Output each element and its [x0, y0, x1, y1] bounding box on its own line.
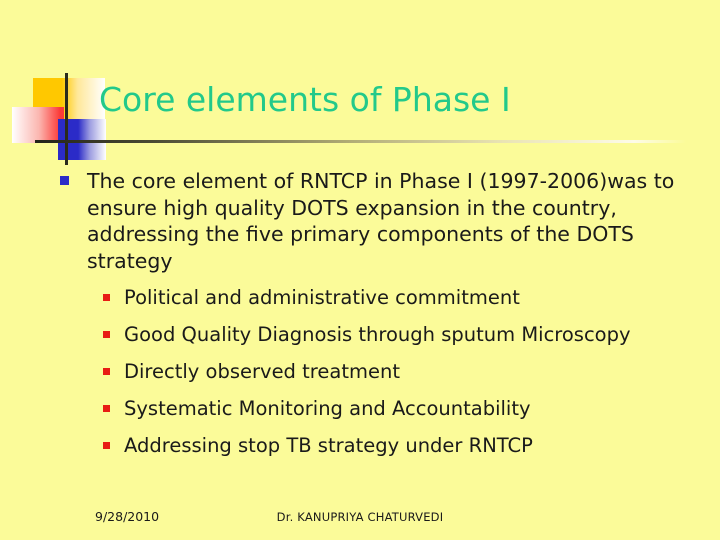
sub-bullet-text: Systematic Monitoring and Accountability [124, 397, 531, 420]
blue-square-bullet-icon [60, 176, 69, 185]
sub-bullet-item: Political and administrative commitment [103, 285, 676, 311]
slide-body: The core element of RNTCP in Phase I (19… [56, 168, 676, 459]
title-underline-rule [35, 140, 686, 143]
red-square-icon [12, 107, 64, 143]
red-square-bullet-icon [103, 405, 110, 412]
red-square-bullet-icon [103, 442, 110, 449]
presentation-slide: Core elements of Phase I The core elemen… [0, 0, 720, 540]
sub-bullet-item: Directly observed treatment [103, 359, 676, 385]
red-square-bullet-icon [103, 294, 110, 301]
footer-author: Dr. KANUPRIYA CHATURVEDI [0, 510, 720, 524]
sub-bullet-text: Directly observed treatment [124, 360, 400, 383]
main-bullet-item: The core element of RNTCP in Phase I (19… [56, 168, 676, 274]
sub-bullet-text: Political and administrative commitment [124, 286, 520, 309]
sub-bullet-text: Good Quality Diagnosis through sputum Mi… [124, 323, 631, 346]
sub-bullet-item: Good Quality Diagnosis through sputum Mi… [103, 322, 676, 348]
sub-bullet-list: Political and administrative commitment … [56, 285, 676, 459]
sub-bullet-item: Systematic Monitoring and Accountability [103, 396, 676, 422]
main-bullet-text: The core element of RNTCP in Phase I (19… [87, 169, 674, 273]
red-square-bullet-icon [103, 368, 110, 375]
slide-title: Core elements of Phase I [99, 80, 511, 119]
sub-bullet-item: Addressing stop TB strategy under RNTCP [103, 433, 676, 459]
red-square-bullet-icon [103, 331, 110, 338]
sub-bullet-text: Addressing stop TB strategy under RNTCP [124, 434, 533, 457]
vertical-crosshair-line [65, 73, 68, 165]
